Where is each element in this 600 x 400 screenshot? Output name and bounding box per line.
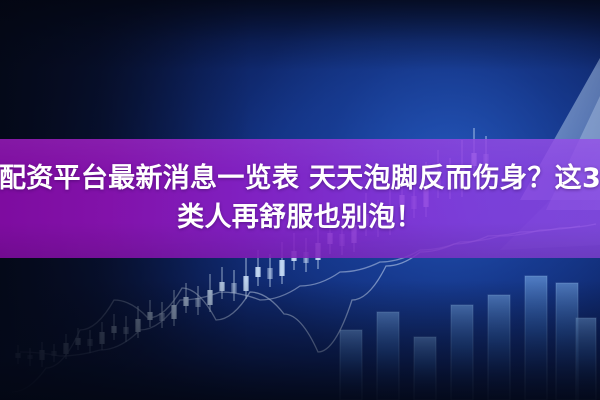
promo-banner: 配资平台最新消息一览表 天天泡脚反而伤身？这3 类人再舒服也别泡！ [0,0,600,400]
bottom-vignette [0,280,600,400]
headline-line-2: 类人再舒服也别泡！ [177,200,423,236]
candle-body [279,260,284,276]
headline-line-1: 配资平台最新消息一览表 天天泡脚反而伤身？这3 [0,161,600,197]
headline-text-block: 配资平台最新消息一览表 天天泡脚反而伤身？这3 类人再舒服也别泡！ [0,139,600,258]
candle-body [255,267,260,277]
top-vignette [0,0,600,70]
candle-body [267,268,272,279]
